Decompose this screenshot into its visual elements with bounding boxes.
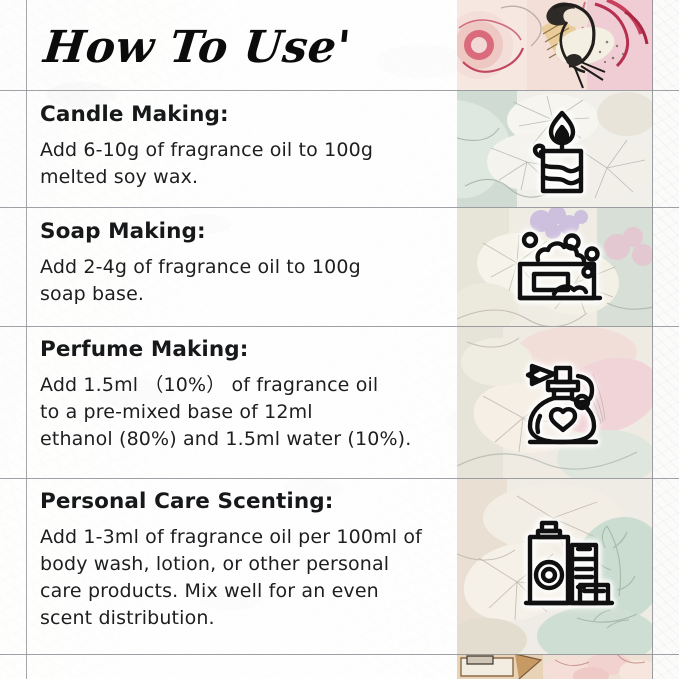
body-line: care products. Mix well for an even <box>40 578 445 605</box>
divider-1 <box>0 90 679 91</box>
body-line: soap base. <box>40 281 445 308</box>
body-line: Add 6-10g of fragrance oil to 100g <box>40 137 445 164</box>
section-perfume-making: Perfume Making: Add 1.5ml （10%） of fragr… <box>40 338 445 453</box>
body-line: body wash, lotion, or other personal <box>40 551 445 578</box>
divider-2 <box>0 207 679 208</box>
perfume-bottle-icon <box>508 358 618 454</box>
section-personal-care-scenting: Personal Care Scenting: Add 1-3ml of fra… <box>40 490 445 632</box>
roses-and-moth-photo <box>457 0 653 90</box>
section-heading: Personal Care Scenting: <box>40 490 445 515</box>
book-and-roses-photo <box>457 654 653 679</box>
body-line: Add 2-4g of fragrance oil to 100g <box>40 254 445 281</box>
section-body: Add 1-3ml of fragrance oil per 100ml of … <box>40 524 445 632</box>
body-line: Add 1.5ml （10%） of fragrance oil <box>40 372 445 399</box>
left-margin-rule <box>26 0 27 679</box>
divider-3 <box>0 326 679 327</box>
body-line: ethanol (80%) and 1.5ml water (10%). <box>40 426 445 453</box>
page-title: How To Use' <box>40 12 447 82</box>
divider-5 <box>0 654 679 655</box>
body-line: scent distribution. <box>40 605 445 632</box>
soap-bar-icon <box>508 228 618 314</box>
right-margin-texture <box>653 0 679 679</box>
section-body: Add 1.5ml （10%） of fragrance oil to a pr… <box>40 372 445 453</box>
section-body: Add 2-4g of fragrance oil to 100g soap b… <box>40 254 445 308</box>
section-body: Add 6-10g of fragrance oil to 100g melte… <box>40 137 445 191</box>
how-to-use-infographic: How To Use' Candle Making: Add 6-10g of … <box>0 0 679 679</box>
body-line: melted soy wax. <box>40 164 445 191</box>
personal-care-products-icon <box>508 515 618 615</box>
section-soap-making: Soap Making: Add 2-4g of fragrance oil t… <box>40 220 445 308</box>
section-heading: Soap Making: <box>40 220 445 245</box>
divider-4 <box>0 478 679 479</box>
body-line: to a pre-mixed base of 12ml <box>40 399 445 426</box>
section-heading: Candle Making: <box>40 103 445 128</box>
candle-icon <box>510 105 614 197</box>
section-heading: Perfume Making: <box>40 338 445 363</box>
body-line: Add 1-3ml of fragrance oil per 100ml of <box>40 524 445 551</box>
section-candle-making: Candle Making: Add 6-10g of fragrance oi… <box>40 103 445 191</box>
